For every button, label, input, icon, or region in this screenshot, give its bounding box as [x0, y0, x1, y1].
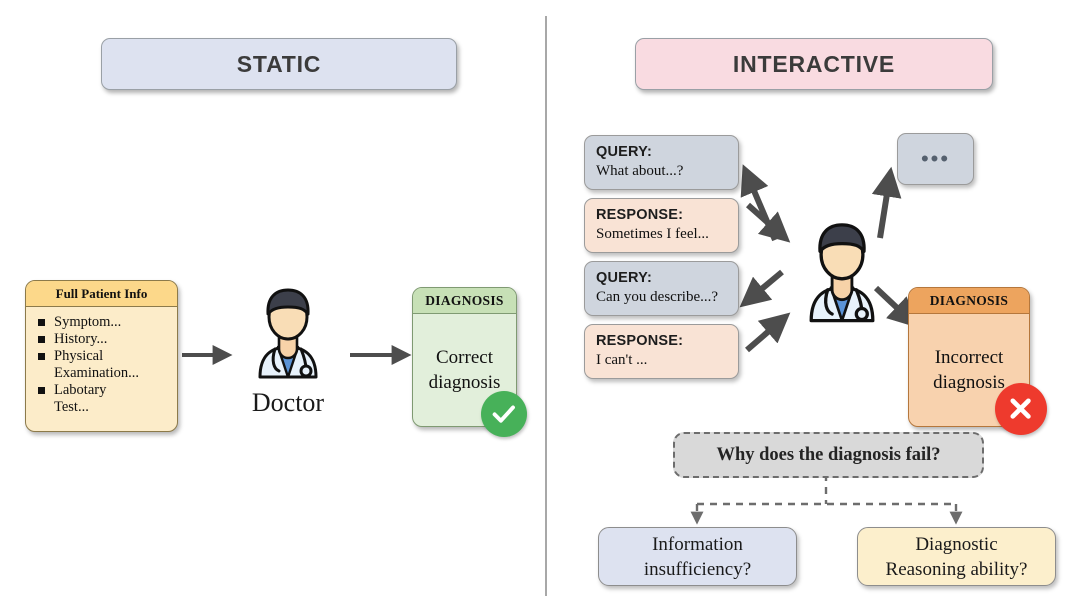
list-item: Labotary	[37, 382, 171, 399]
arrow-doctor-to-query-2	[746, 272, 782, 302]
chat-message: I can't ...	[596, 351, 727, 370]
list-item-continuation: Examination...	[37, 365, 171, 382]
chat-role: RESPONSE:	[596, 332, 727, 350]
cause-line-1: Information	[644, 532, 751, 557]
doctor-avatar-icon	[787, 215, 897, 325]
panel-header-interactive: INTERACTIVE	[635, 38, 993, 90]
cause-line-1: Diagnostic	[886, 532, 1028, 557]
patient-card-title: Full Patient Info	[26, 281, 177, 307]
diagram-canvas: STATIC INTERACTIVE Full Patient Info Sym…	[0, 0, 1080, 610]
list-item: History...	[37, 331, 171, 348]
diagnosis-line-1: Correct	[429, 345, 501, 370]
diagnosis-line-2: diagnosis	[933, 370, 1005, 395]
doctor-avatar-icon	[238, 281, 338, 381]
diagnosis-line-1: Incorrect	[933, 345, 1005, 370]
chat-role: QUERY:	[596, 269, 727, 287]
panel-header-static: STATIC	[101, 38, 457, 90]
diagnosis-header: DIAGNOSIS	[413, 288, 516, 314]
doctor-label: Doctor	[218, 388, 358, 418]
chat-role: QUERY:	[596, 143, 727, 161]
cause-box-information-insufficiency: Information insufficiency?	[598, 527, 797, 586]
dashed-tree-connector	[697, 474, 956, 521]
why-question-box: Why does the diagnosis fail?	[673, 432, 984, 478]
cause-line-2: Reasoning ability?	[886, 557, 1028, 582]
chat-message: Sometimes I feel...	[596, 225, 727, 244]
chat-role: RESPONSE:	[596, 206, 727, 224]
arrow-response-2-to-doctor	[747, 318, 784, 350]
panel-divider	[545, 16, 547, 596]
cause-line-2: insufficiency?	[644, 557, 751, 582]
chat-message: Can you describe...?	[596, 288, 727, 307]
cause-box-diagnostic-reasoning: Diagnostic Reasoning ability?	[857, 527, 1056, 586]
diagnosis-line-2: diagnosis	[429, 370, 501, 395]
chat-bubble-query: QUERY: What about...?	[584, 135, 739, 190]
chat-bubble-query: QUERY: Can you describe...?	[584, 261, 739, 316]
check-icon	[481, 391, 527, 437]
list-item: Symptom...	[37, 314, 171, 331]
arrow-doctor-to-query-1	[746, 172, 775, 240]
full-patient-info-card: Full Patient Info Symptom... History... …	[25, 280, 178, 432]
cross-icon	[995, 383, 1047, 435]
chat-message: What about...?	[596, 162, 727, 181]
list-item: Physical	[37, 348, 171, 365]
list-item-continuation: Test...	[37, 399, 171, 416]
diagnosis-header: DIAGNOSIS	[909, 288, 1029, 314]
arrow-response-1-to-doctor	[748, 205, 784, 237]
ellipsis-box: •••	[897, 133, 974, 185]
chat-bubble-response: RESPONSE: Sometimes I feel...	[584, 198, 739, 253]
patient-info-list: Symptom... History... Physical Examinati…	[26, 307, 177, 416]
chat-bubble-response: RESPONSE: I can't ...	[584, 324, 739, 379]
